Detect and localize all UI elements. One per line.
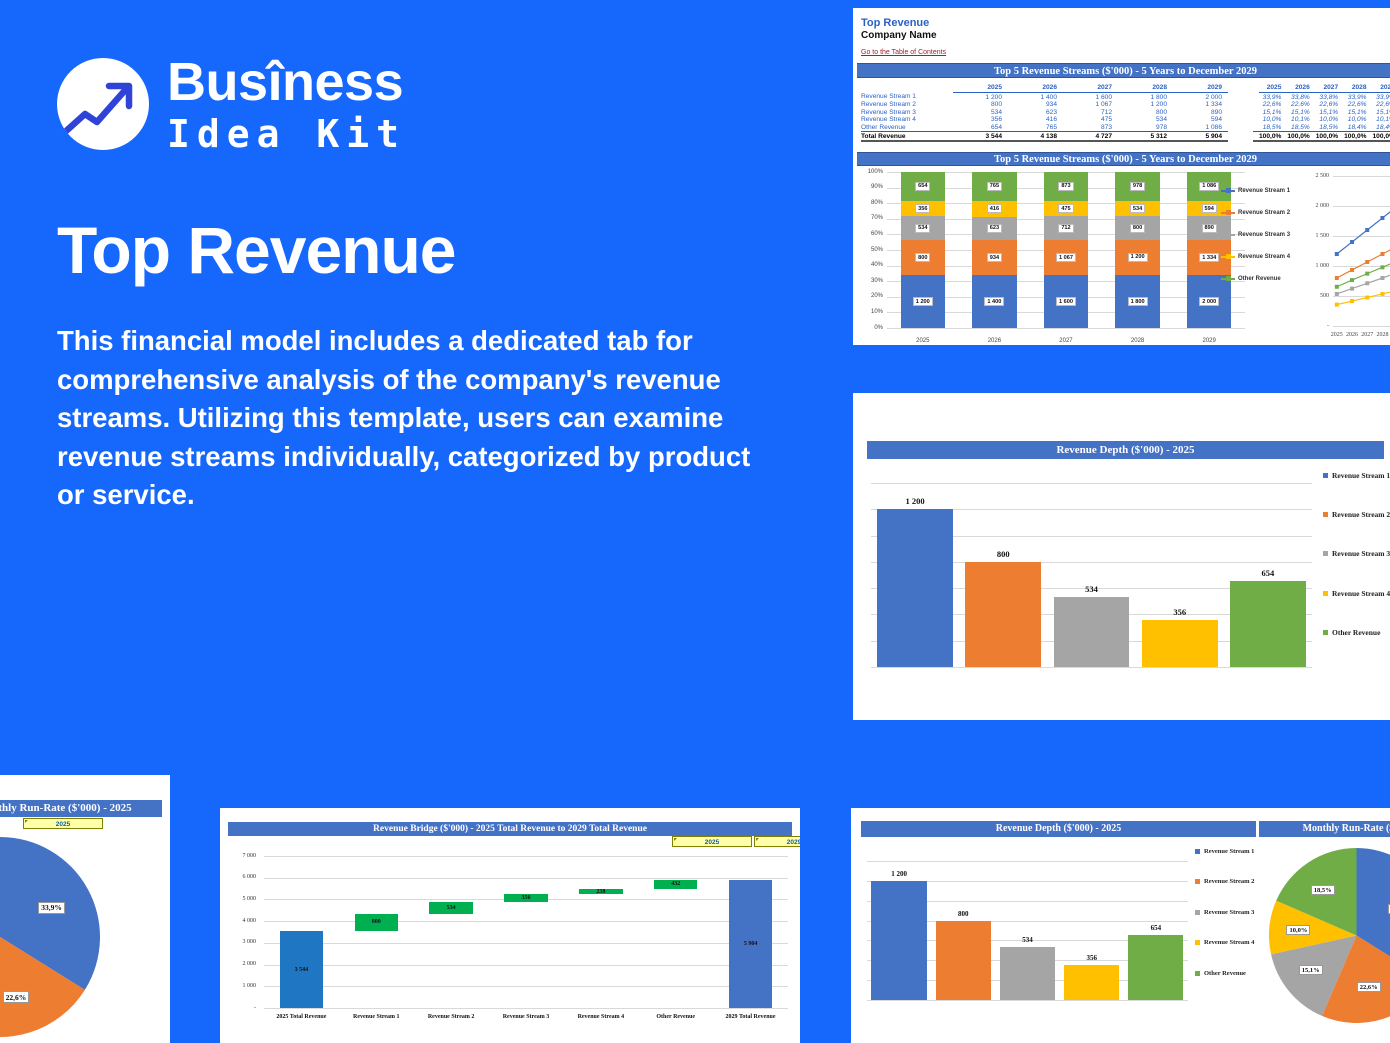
legend-label: Revenue Stream 1 bbox=[1204, 848, 1254, 855]
table-cell: 356 bbox=[953, 116, 1008, 124]
stack-segment: 1 800 bbox=[1115, 275, 1159, 328]
stack-segment: 654 bbox=[901, 172, 945, 201]
table-cell: 1 200 bbox=[1118, 101, 1173, 109]
stack-segment: 712 bbox=[1044, 216, 1088, 239]
table-cell: 10,1% bbox=[1373, 116, 1390, 124]
brand-name-secondary: Idea Kit bbox=[167, 115, 406, 153]
waterfall-delta-bar: 356 bbox=[504, 894, 547, 902]
bar-value-label: 534 bbox=[998, 936, 1058, 944]
worksheet-company-name: Company Name bbox=[861, 30, 1390, 41]
segment-value: 534 bbox=[1130, 204, 1145, 213]
revenue-depth-legend: Revenue Stream 1Revenue Stream 2Revenue … bbox=[1323, 471, 1390, 667]
table-cell: 22,6% bbox=[1316, 101, 1344, 109]
legend-label: Revenue Stream 2 bbox=[1332, 510, 1390, 519]
pie-slice-label: 15,1% bbox=[1299, 965, 1323, 975]
monthly-run-rate-right-title: Monthly Run-Rate ($'000) bbox=[1259, 821, 1390, 837]
segment-value: 800 bbox=[915, 253, 930, 262]
row-label: Revenue Stream 2 bbox=[861, 101, 953, 109]
legend-label: Revenue Stream 3 bbox=[1204, 909, 1254, 916]
table-cell: 33,8% bbox=[1316, 93, 1344, 101]
brand-name-primary: Busîness bbox=[167, 55, 406, 109]
table-row: Revenue Stream 28009341 0671 2001 334 bbox=[861, 101, 1228, 109]
legend-swatch bbox=[1195, 971, 1200, 976]
bar-value-label: 3 544 bbox=[295, 967, 309, 973]
table-cell: 33,9% bbox=[1344, 93, 1372, 101]
table-cell: 18,5% bbox=[1259, 124, 1287, 132]
table-cell: 22,6% bbox=[1259, 101, 1287, 109]
table-of-contents-link[interactable]: Go to the Table of Contents bbox=[861, 49, 946, 56]
bar-value-label: 534 bbox=[447, 905, 456, 911]
x-axis-label: 2026 bbox=[959, 338, 1031, 344]
table-cell: 15,1% bbox=[1316, 108, 1344, 116]
legend-item: Revenue Stream 1 bbox=[1221, 180, 1311, 202]
bar bbox=[936, 921, 991, 1000]
bottom-right-card: Revenue Depth ($'000) - 2025 Monthly Run… bbox=[851, 808, 1390, 1043]
revenue-bridge-plot: -1 0002 0003 0004 0005 0006 0007 0003 54… bbox=[230, 850, 792, 1030]
x-axis-label: 2025 Total Revenue bbox=[264, 1014, 339, 1020]
column-header: 2029 bbox=[1373, 84, 1390, 93]
table-row: Revenue Stream 3534623712800890 bbox=[861, 108, 1228, 116]
waterfall-delta-bar: 238 bbox=[579, 889, 622, 894]
legend-marker bbox=[1221, 234, 1235, 236]
bar-value-label: 432 bbox=[671, 881, 680, 887]
bridge-start-year-selector[interactable]: 2025 bbox=[672, 836, 752, 847]
legend-label: Other Revenue bbox=[1332, 628, 1380, 637]
monthly-run-rate-left-card: Monthly Run-Rate ($'000) - 2025 2025 33,… bbox=[0, 775, 170, 1043]
table-cell: 1 800 bbox=[1118, 93, 1173, 101]
bar-value-label: 238 bbox=[596, 889, 605, 895]
stack-segment: 1 600 bbox=[1044, 275, 1088, 328]
legend-item: Revenue Stream 3 bbox=[1195, 909, 1254, 916]
stack-segment: 800 bbox=[1115, 216, 1159, 239]
pie-slice-label: 22,6% bbox=[1357, 982, 1381, 992]
table-cell: 1 086 bbox=[1173, 124, 1228, 132]
revenue-table-percent: 2025202620272028202933,9%33,8%33,8%33,9%… bbox=[1253, 84, 1390, 142]
segment-value: 1 400 bbox=[984, 297, 1004, 306]
bar-value-label: 1 200 bbox=[885, 496, 945, 506]
x-axis-label: 2029 bbox=[1173, 338, 1245, 344]
table-cell: 22,6% bbox=[1344, 101, 1372, 109]
table-cell: 890 bbox=[1173, 108, 1228, 116]
table-cell: 15,1% bbox=[1373, 108, 1390, 116]
pie-slice-label: 10,0% bbox=[1286, 925, 1310, 935]
waterfall-delta-bar: 800 bbox=[355, 914, 398, 931]
legend-label: Revenue Stream 4 bbox=[1238, 254, 1290, 260]
segment-value: 654 bbox=[915, 182, 930, 191]
table-cell: 1 067 bbox=[1063, 101, 1118, 109]
legend-marker bbox=[1221, 256, 1235, 258]
monthly-run-rate-left-title: Monthly Run-Rate ($'000) - 2025 bbox=[0, 800, 162, 817]
table-cell: 1 400 bbox=[1008, 93, 1063, 101]
table-header-row: 20252026202720282029 bbox=[861, 84, 1228, 93]
table-cell: 475 bbox=[1063, 116, 1118, 124]
table-cell: 800 bbox=[1118, 108, 1173, 116]
brand-lockup: Busîness Idea Kit bbox=[57, 55, 406, 153]
segment-value: 1 800 bbox=[1128, 297, 1148, 306]
bar-value-label: 1 200 bbox=[869, 870, 929, 878]
table-cell: 594 bbox=[1173, 116, 1228, 124]
monthly-run-rate-left-pie: 33,9%22,6%15,1%10,0%18,5% bbox=[0, 837, 100, 1037]
segment-value: 800 bbox=[1130, 224, 1145, 233]
stack-segment: 534 bbox=[1115, 201, 1159, 217]
stack-segment: 475 bbox=[1044, 201, 1088, 217]
table-cell: 1 600 bbox=[1063, 93, 1118, 101]
waterfall-delta-bar: 432 bbox=[654, 880, 697, 889]
legend-item: Revenue Stream 2 bbox=[1195, 878, 1254, 885]
legend-swatch bbox=[1323, 512, 1328, 517]
pie-slice-label: 22,6% bbox=[3, 991, 30, 1003]
legend-item: Revenue Stream 4 bbox=[1323, 589, 1390, 598]
table-cell: 978 bbox=[1118, 124, 1173, 132]
revenue-depth-title: Revenue Depth ($'000) - 2025 bbox=[867, 441, 1384, 459]
column-header: 2026 bbox=[1008, 84, 1063, 93]
table-cell: 800 bbox=[953, 101, 1008, 109]
segment-value: 475 bbox=[1058, 204, 1073, 213]
table-cell: 15,1% bbox=[1287, 108, 1315, 116]
stack-segment: 873 bbox=[1044, 172, 1088, 201]
row-label: Revenue Stream 4 bbox=[861, 116, 953, 124]
table-total-row: Total Revenue3 5444 1384 7275 3125 904 bbox=[861, 132, 1228, 141]
stack-segment: 978 bbox=[1115, 172, 1159, 201]
revenue-depth-card: Revenue Depth ($'000) - 2025 1 200800534… bbox=[853, 393, 1390, 720]
bar-value-label: 534 bbox=[1062, 584, 1122, 594]
stacked-bar: 6543565348001 200 bbox=[901, 172, 945, 328]
column-header: 2028 bbox=[1344, 84, 1372, 93]
segment-value: 1 600 bbox=[1056, 297, 1076, 306]
segment-value: 534 bbox=[915, 224, 930, 233]
table-cell: 18,5% bbox=[1316, 124, 1344, 132]
revenue-depth-small-legend: Revenue Stream 1Revenue Stream 2Revenue … bbox=[1195, 848, 1271, 1000]
pie-slice-label: 18,5% bbox=[1311, 885, 1335, 895]
waterfall-total-bar: 3 544 bbox=[280, 931, 323, 1008]
bar-value-label: 654 bbox=[1126, 924, 1186, 932]
table-row: Revenue Stream 4356416475534594 bbox=[861, 116, 1228, 124]
table-cell: 18,4% bbox=[1373, 124, 1390, 132]
revenue-table-absolute: 20252026202720282029Revenue Stream 11 20… bbox=[861, 84, 1228, 142]
monthly-run-rate-right-pie: 33,9%22,6%15,1%10,0%18,5% bbox=[1269, 848, 1390, 1023]
bar bbox=[1230, 581, 1306, 667]
segment-value: 1 200 bbox=[1128, 253, 1148, 262]
worksheet-card: Top Revenue Company Name Go to the Table… bbox=[853, 8, 1390, 345]
table-cell: 534 bbox=[1118, 116, 1173, 124]
column-header: 2026 bbox=[1287, 84, 1315, 93]
table-cell: 18,4% bbox=[1344, 124, 1372, 132]
x-axis-label: 2028 bbox=[1102, 338, 1174, 344]
table-cell: 18,5% bbox=[1287, 124, 1315, 132]
x-axis-label: Revenue Stream 3 bbox=[489, 1014, 564, 1020]
table-cell: 33,9% bbox=[1373, 93, 1390, 101]
legend-item: Revenue Stream 1 bbox=[1195, 848, 1254, 855]
legend-item: Revenue Stream 4 bbox=[1221, 246, 1311, 268]
legend-item: Other Revenue bbox=[1221, 268, 1311, 290]
segment-value: 594 bbox=[1202, 204, 1217, 213]
table-cell: 33,9% bbox=[1259, 93, 1287, 101]
bar bbox=[877, 509, 953, 667]
table-cell: 873 bbox=[1063, 124, 1118, 132]
bar-value-label: 5 904 bbox=[744, 941, 758, 947]
column-header: 2027 bbox=[1063, 84, 1118, 93]
column-header: 2025 bbox=[1259, 84, 1287, 93]
table-cell: 15,1% bbox=[1259, 108, 1287, 116]
stack-segment: 800 bbox=[901, 240, 945, 275]
legend-label: Revenue Stream 4 bbox=[1204, 939, 1254, 946]
bar bbox=[871, 881, 926, 1000]
column-header: 2027 bbox=[1316, 84, 1344, 93]
legend-item: Revenue Stream 2 bbox=[1221, 202, 1311, 224]
bar-value-label: 356 bbox=[1062, 954, 1122, 962]
table-cell: 33,8% bbox=[1287, 93, 1315, 101]
stacked-bar: 7654166239341 400 bbox=[972, 172, 1016, 328]
x-axis-label: Revenue Stream 2 bbox=[414, 1014, 489, 1020]
table-row: 18,5%18,5%18,5%18,4%18,4% bbox=[1253, 124, 1390, 132]
bar-value-label: 800 bbox=[973, 549, 1033, 559]
table-cell: 1 200 bbox=[953, 93, 1008, 101]
stack-segment: 1 200 bbox=[901, 275, 945, 328]
table-total-row: 100,0%100,0%100,0%100,0%100,0% bbox=[1253, 132, 1390, 141]
growth-arrow-icon bbox=[57, 58, 149, 150]
page-description: This financial model includes a dedicate… bbox=[57, 322, 757, 515]
revenue-bridge-card: Revenue Bridge ($'000) - 2025 Total Reve… bbox=[220, 808, 800, 1043]
segment-value: 765 bbox=[987, 182, 1002, 191]
legend-item: Revenue Stream 3 bbox=[1221, 224, 1311, 246]
table-row: 33,9%33,8%33,8%33,9%33,9% bbox=[1253, 93, 1390, 101]
segment-value: 934 bbox=[987, 253, 1002, 262]
x-axis-label: Other Revenue bbox=[638, 1014, 713, 1020]
legend-swatch bbox=[1323, 473, 1328, 478]
x-axis-label: 2029 bbox=[1386, 332, 1390, 338]
table-cell: 416 bbox=[1008, 116, 1063, 124]
table-cell: 534 bbox=[953, 108, 1008, 116]
stack-segment: 623 bbox=[972, 217, 1016, 240]
bar bbox=[965, 562, 1041, 667]
segment-value: 712 bbox=[1058, 224, 1073, 233]
column-header: 2025 bbox=[953, 84, 1008, 93]
legend-item: Other Revenue bbox=[1195, 970, 1246, 977]
worksheet-header: Top Revenue Company Name Go to the Table… bbox=[853, 8, 1390, 59]
segment-value: 1 334 bbox=[1199, 253, 1219, 262]
table-cell: 22,6% bbox=[1287, 101, 1315, 109]
table-row: 10,0%10,1%10,0%10,0%10,1% bbox=[1253, 116, 1390, 124]
legend-swatch bbox=[1195, 849, 1200, 854]
row-label: Other Revenue bbox=[861, 124, 953, 132]
worksheet-title: Top Revenue bbox=[861, 17, 1390, 29]
bar-value-label: 356 bbox=[521, 895, 530, 901]
x-axis-label: 2025 bbox=[887, 338, 959, 344]
table-row: Other Revenue6547658739781 086 bbox=[861, 124, 1228, 132]
table-cell: 934 bbox=[1008, 101, 1063, 109]
revenue-depth-small-title: Revenue Depth ($'000) - 2025 bbox=[861, 821, 1256, 837]
table-cell: 10,0% bbox=[1316, 116, 1344, 124]
legend-label: Revenue Stream 3 bbox=[1238, 232, 1290, 238]
table-cell: 654 bbox=[953, 124, 1008, 132]
column-header: 2029 bbox=[1173, 84, 1228, 93]
legend-item: Revenue Stream 1 bbox=[1323, 471, 1390, 480]
table-cell: 2 000 bbox=[1173, 93, 1228, 101]
bar bbox=[1142, 620, 1218, 667]
legend-swatch bbox=[1323, 591, 1328, 596]
stack-segment: 765 bbox=[972, 172, 1016, 201]
legend-marker bbox=[1221, 278, 1235, 280]
legend-label: Revenue Stream 4 bbox=[1332, 589, 1390, 598]
legend-swatch bbox=[1195, 940, 1200, 945]
row-label: Revenue Stream 1 bbox=[861, 93, 953, 101]
legend-label: Other Revenue bbox=[1238, 276, 1281, 282]
stack-segment: 1 400 bbox=[972, 275, 1016, 328]
stack-segment: 534 bbox=[901, 216, 945, 240]
bar bbox=[1000, 947, 1055, 1000]
segment-value: 1 200 bbox=[913, 297, 933, 306]
segment-value: 623 bbox=[987, 224, 1002, 233]
legend-swatch bbox=[1195, 879, 1200, 884]
revenue-depth-small-plot: 1 200800534356654 bbox=[865, 841, 1190, 1006]
slide-canvas: Busîness Idea Kit Top Revenue This finan… bbox=[0, 0, 1390, 1043]
bridge-end-year-selector[interactable]: 2029 bbox=[754, 836, 800, 847]
legend-label: Revenue Stream 2 bbox=[1204, 878, 1254, 885]
bar-value-label: 800 bbox=[933, 910, 993, 918]
segment-value: 2 000 bbox=[1199, 297, 1219, 306]
segment-value: 1 086 bbox=[1199, 182, 1219, 191]
legend-marker bbox=[1221, 190, 1235, 192]
table-row: 22,6%22,6%22,6%22,6%22,6% bbox=[1253, 101, 1390, 109]
table-cell: 15,1% bbox=[1344, 108, 1372, 116]
legend-item: Other Revenue bbox=[1323, 628, 1380, 637]
legend-swatch bbox=[1195, 910, 1200, 915]
table-cell: 10,0% bbox=[1259, 116, 1287, 124]
worksheet-banner-chart: Top 5 Revenue Streams ($'000) - 5 Years … bbox=[857, 152, 1390, 166]
stacked-bar: 8734757121 0671 600 bbox=[1044, 172, 1088, 328]
table-cell: 22,6% bbox=[1373, 101, 1390, 109]
line-chart: -5001 0001 5002 0002 5002025202620272028… bbox=[1303, 166, 1390, 345]
legend-swatch bbox=[1323, 551, 1328, 556]
row-label: Revenue Stream 3 bbox=[861, 108, 953, 116]
x-axis-label: 2027 bbox=[1030, 338, 1102, 344]
segment-value: 978 bbox=[1130, 182, 1145, 191]
pie-slice-label: 33,9% bbox=[38, 902, 65, 914]
waterfall-total-bar: 5 904 bbox=[729, 880, 772, 1008]
legend-marker bbox=[1221, 212, 1235, 214]
table-cell: 10,0% bbox=[1344, 116, 1372, 124]
legend-item: Revenue Stream 3 bbox=[1323, 549, 1390, 558]
table-cell: 765 bbox=[1008, 124, 1063, 132]
table-row: Revenue Stream 11 2001 4001 6001 8002 00… bbox=[861, 93, 1228, 101]
worksheet-banner-top: Top 5 Revenue Streams ($'000) - 5 Years … bbox=[857, 63, 1390, 78]
table-cell: 623 bbox=[1008, 108, 1063, 116]
table-cell: 712 bbox=[1063, 108, 1118, 116]
bar-value-label: 356 bbox=[1150, 607, 1210, 617]
segment-value: 890 bbox=[1202, 224, 1217, 233]
page-title: Top Revenue bbox=[57, 212, 456, 288]
legend-item: Revenue Stream 4 bbox=[1195, 939, 1254, 946]
legend-item: Revenue Stream 2 bbox=[1323, 510, 1390, 519]
revenue-bridge-title: Revenue Bridge ($'000) - 2025 Total Reve… bbox=[228, 822, 792, 836]
legend-label: Revenue Stream 2 bbox=[1238, 210, 1290, 216]
table-cell: 1 334 bbox=[1173, 101, 1228, 109]
stack-segment: 1 067 bbox=[1044, 240, 1088, 275]
legend-label: Revenue Stream 3 bbox=[1332, 549, 1390, 558]
legend-swatch bbox=[1323, 630, 1328, 635]
table-header-row: 20252026202720282029 bbox=[1253, 84, 1390, 93]
legend-label: Revenue Stream 1 bbox=[1238, 188, 1290, 194]
stacked-bar: 9785348001 2001 800 bbox=[1115, 172, 1159, 328]
stack-segment: 416 bbox=[972, 201, 1016, 217]
bar-value-label: 800 bbox=[372, 919, 381, 925]
revenue-depth-plot: 1 200800534356654 bbox=[869, 463, 1314, 673]
bar-value-label: 654 bbox=[1238, 568, 1298, 578]
x-axis-label: 2029 Total Revenue bbox=[713, 1014, 788, 1020]
legend-label: Other Revenue bbox=[1204, 970, 1246, 977]
stacked-bar-chart: 0%10%20%30%40%50%60%70%80%90%100%6543565… bbox=[861, 168, 1251, 345]
bar bbox=[1128, 935, 1183, 1000]
x-axis-label: Revenue Stream 1 bbox=[339, 1014, 414, 1020]
bar bbox=[1064, 965, 1119, 1000]
table-row: 15,1%15,1%15,1%15,1%15,1% bbox=[1253, 108, 1390, 116]
segment-value: 1 067 bbox=[1056, 253, 1076, 262]
year-selector-left[interactable]: 2025 bbox=[23, 818, 103, 829]
segment-value: 873 bbox=[1058, 182, 1073, 191]
stack-segment: 934 bbox=[972, 240, 1016, 275]
bar bbox=[1054, 597, 1130, 667]
table-cell: 10,1% bbox=[1287, 116, 1315, 124]
x-axis-label: Revenue Stream 4 bbox=[563, 1014, 638, 1020]
segment-value: 416 bbox=[987, 204, 1002, 213]
waterfall-delta-bar: 534 bbox=[429, 902, 472, 914]
segment-value: 356 bbox=[915, 204, 930, 213]
stack-segment: 1 200 bbox=[1115, 240, 1159, 275]
stacked-chart-legend: Revenue Stream 1Revenue Stream 2Revenue … bbox=[1221, 180, 1311, 290]
legend-label: Revenue Stream 1 bbox=[1332, 471, 1390, 480]
stack-segment: 356 bbox=[901, 201, 945, 217]
column-header: 2028 bbox=[1118, 84, 1173, 93]
